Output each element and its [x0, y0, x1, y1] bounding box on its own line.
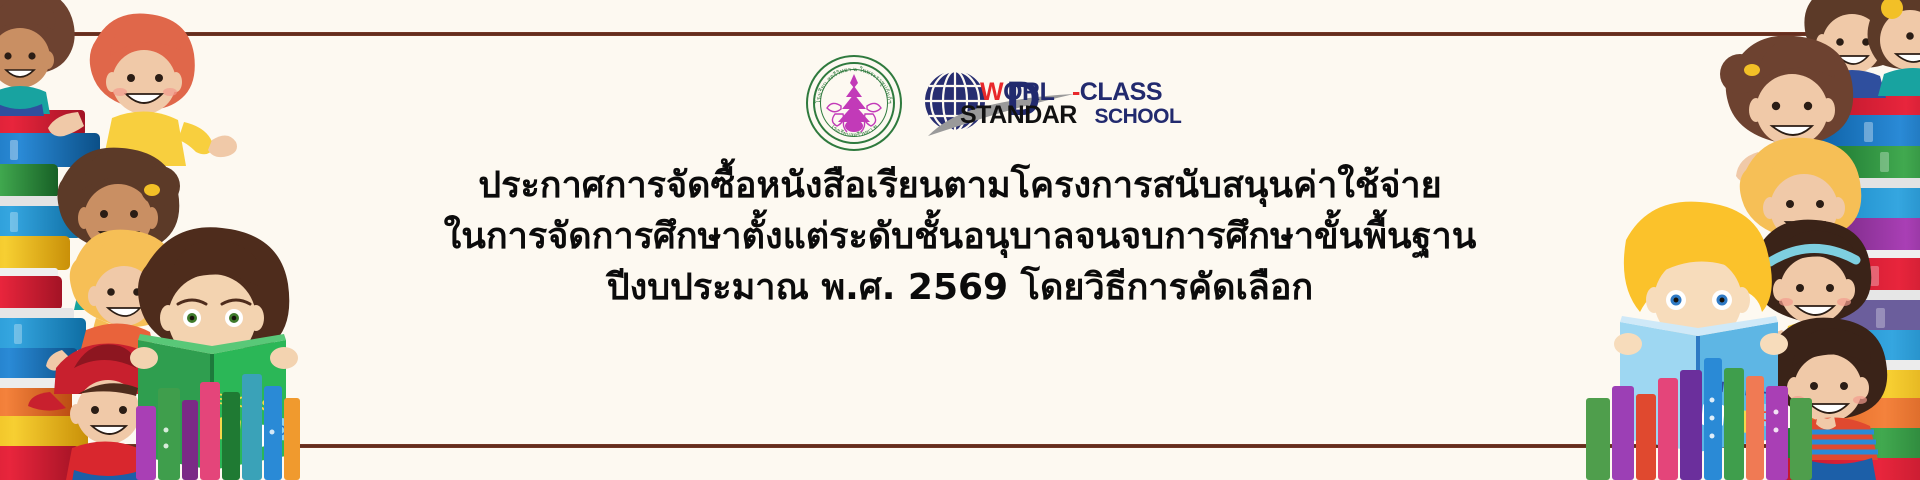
announcement-title: ประกาศการจัดซื้อหนังสือเรียนตามโครงการสน…	[290, 160, 1630, 313]
wcs-standar: STANDAR	[960, 101, 1077, 129]
world-class-standard-school-logo: D WORLD-CLASS STANDARDSCHOOL	[924, 64, 1114, 142]
wcs-line-2: STANDARDSCHOOL	[960, 103, 1100, 128]
title-line-3: ปีงบประมาณ พ.ศ. 2569 โดยวิธีการคัดเลือก	[290, 262, 1630, 313]
title-line-2: ในการจัดการศึกษาตั้งแต่ระดับชั้นอนุบาลจน…	[290, 211, 1630, 262]
wcs-wordmark: WORLD-CLASS STANDARDSCHOOL	[980, 80, 1120, 130]
title-line-1: ประกาศการจัดซื้อหนังสือเรียนตามโครงการสน…	[290, 160, 1630, 211]
logo-row: โรงเรียน สตรีวิทยา ๒ ในพระราชูปถัมภ์ฯ โร…	[0, 55, 1920, 151]
school-seal: โรงเรียน สตรีวิทยา ๒ ในพระราชูปถัมภ์ฯ โร…	[806, 55, 902, 151]
announcement-banner: ENGLISH A B C	[0, 0, 1920, 480]
standing-books-row-left	[136, 374, 300, 480]
seal-emblem	[808, 57, 900, 149]
wcs-school: SCHOOL	[1094, 105, 1181, 128]
